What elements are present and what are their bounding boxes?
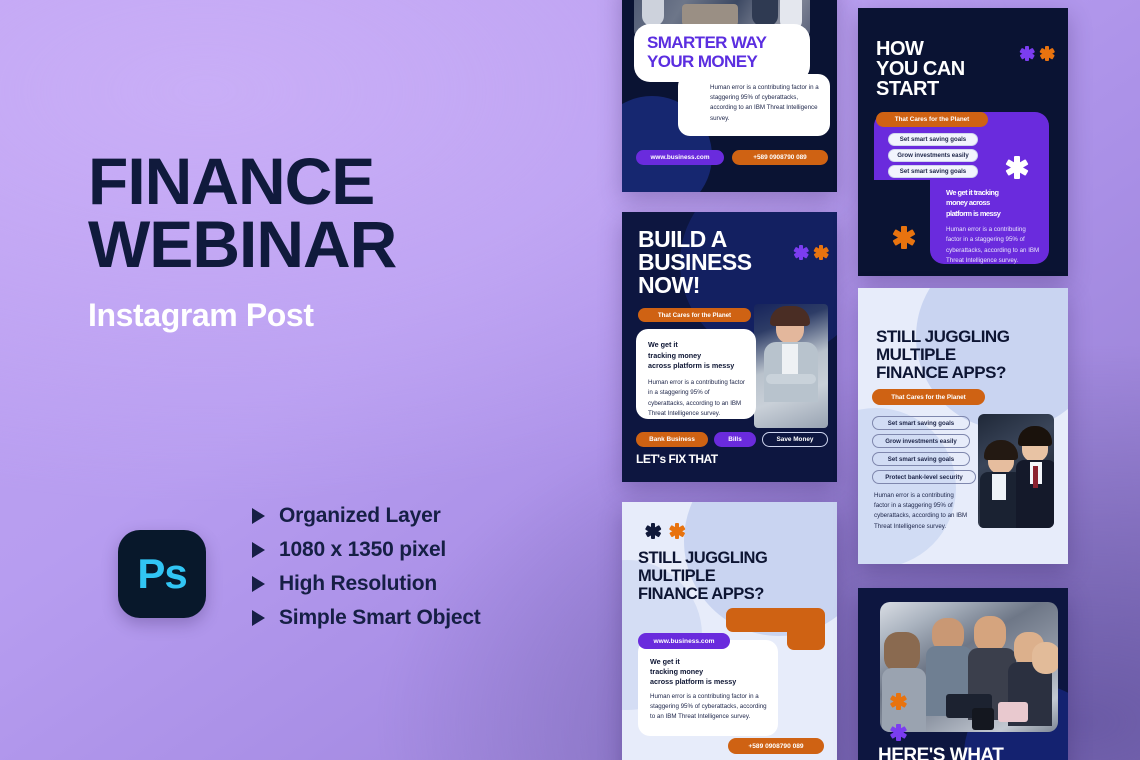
lead-line-2: money across [946, 198, 1042, 208]
feature-label: High Resolution [279, 572, 437, 596]
card-title-line-2: YOU CAN [876, 59, 965, 79]
card-title-line-1: HOW [876, 39, 923, 59]
card-photo-team [880, 602, 1058, 732]
title-line-2: WEBINAR [88, 213, 568, 276]
feature-label: 1080 x 1350 pixel [279, 538, 446, 562]
card-body-text: Human error is a contributing factor in … [678, 74, 830, 124]
tag-save-money[interactable]: Save Money [762, 432, 828, 447]
lead-line-3: across platform is messy [650, 677, 736, 687]
card-title-line-3: FINANCE APPS? [638, 586, 764, 603]
list-item[interactable]: Set smart saving goals [872, 452, 970, 466]
list-item[interactable]: Set smart saving goals [872, 416, 970, 430]
card-body-text: Human error is a contributing factor in … [636, 371, 756, 419]
photoshop-icon-label: Ps [137, 550, 186, 598]
badge-planet[interactable]: That Cares for the Planet [638, 308, 751, 322]
card-title-line-3: START [876, 79, 939, 99]
triangle-bullet-icon [252, 610, 265, 626]
features-block: Ps Organized Layer 1080 x 1350 pixel Hig… [118, 518, 481, 630]
card-photo-people [978, 414, 1054, 528]
feature-label: Organized Layer [279, 504, 441, 528]
card-title-line-2: YOUR MONEY [634, 52, 810, 71]
hero-text-block: FINANCE WEBINAR Instagram Post [88, 150, 568, 334]
card-title-line-2: MULTIPLE [876, 346, 956, 364]
asterisk-icon-orange [670, 524, 684, 538]
lead-line-2: tracking money [636, 350, 756, 361]
card-body-text: Human error is a contributing factor in … [650, 692, 772, 723]
triangle-bullet-icon [252, 508, 265, 524]
card-title-line-1: HERE'S WHAT [878, 746, 1003, 760]
card-title-line-3: FINANCE APPS? [876, 364, 1006, 382]
lead-line-2: tracking money [650, 667, 703, 677]
asterisk-icon-orange [1040, 46, 1054, 60]
card-title-line-2: BUSINESS [638, 251, 752, 274]
list-item: Simple Smart Object [252, 606, 481, 630]
lead-line-1: We get it [650, 657, 680, 667]
asterisk-icon-violet [794, 245, 808, 259]
card-body-text: Human error is a contributing factor in … [874, 491, 970, 532]
badge-planet[interactable]: That Cares for the Planet [872, 389, 985, 405]
list-item[interactable]: Grow investments easily [872, 434, 970, 448]
card-title-line-1: STILL JUGGLING [638, 550, 767, 567]
card-body-panel: We get it tracking money across platform… [636, 329, 756, 419]
card-title-line-2: MULTIPLE [638, 568, 715, 585]
website-button[interactable]: www.business.com [638, 633, 730, 649]
badge-planet[interactable]: That Cares for the Planet [876, 112, 988, 127]
card-photo-person [754, 304, 828, 428]
feature-label: Simple Smart Object [279, 606, 481, 630]
phone-button[interactable]: +589 0908790 089 [732, 150, 828, 165]
lead-line-1: We get it [636, 329, 756, 350]
list-item: High Resolution [252, 572, 481, 596]
list-item: Organized Layer [252, 504, 481, 528]
card-title-line-1: BUILD A [638, 228, 727, 251]
card-still-juggling-right[interactable]: STILL JUGGLING MULTIPLE FINANCE APPS? Th… [858, 288, 1068, 564]
asterisk-icon-orange [890, 693, 906, 709]
lead-line-1: We get it tracking [946, 188, 1042, 198]
list-item[interactable]: Protect bank-level security [872, 470, 976, 484]
card-body-panel: Human error is a contributing factor in … [678, 74, 830, 136]
page-title: FINANCE WEBINAR [88, 150, 568, 275]
list-item[interactable]: Set smart saving goals [888, 165, 978, 178]
card-body-text: Human error is a contributing factor in … [946, 225, 1042, 266]
photoshop-icon: Ps [118, 530, 206, 618]
feature-list: Organized Layer 1080 x 1350 pixel High R… [252, 504, 481, 630]
asterisk-icon-orange [814, 245, 828, 259]
card-smarter-way[interactable]: SMARTER WAY YOUR MONEY Human error is a … [622, 0, 837, 192]
lead-line-3: across platform is messy [636, 360, 756, 371]
lead-line-3: platform is messy [946, 209, 1042, 219]
website-button[interactable]: www.business.com [636, 150, 724, 165]
card-still-juggling-light[interactable]: STILL JUGGLING MULTIPLE FINANCE APPS? ww… [622, 502, 837, 760]
card-build-a-business[interactable]: BUILD A BUSINESS NOW! That Cares for the… [622, 212, 837, 482]
card-title-line-3: NOW! [638, 274, 700, 297]
asterisk-icon-white [1006, 156, 1028, 178]
decorative-blob-2 [858, 408, 956, 564]
phone-button[interactable]: +589 0908790 089 [728, 738, 824, 754]
tag-bank-business[interactable]: Bank Business [636, 432, 708, 447]
card-title-line-1: SMARTER WAY [634, 24, 810, 52]
card-heres-what-youll-learn[interactable]: HERE'S WHAT YOU'LL LEARN [858, 588, 1068, 760]
asterisk-icon-orange-2 [893, 226, 915, 248]
tag-bills[interactable]: Bills [714, 432, 756, 447]
triangle-bullet-icon [252, 542, 265, 558]
list-item: 1080 x 1350 pixel [252, 538, 481, 562]
card-title-line-1: STILL JUGGLING [876, 328, 1009, 346]
asterisk-icon-violet [890, 724, 906, 740]
poster-canvas: FINANCE WEBINAR Instagram Post Ps Organi… [0, 0, 1140, 760]
triangle-bullet-icon [252, 576, 265, 592]
asterisk-icon-violet [1020, 46, 1034, 60]
list-item[interactable]: Set smart saving goals [888, 133, 978, 146]
decorative-orange-shape-2 [787, 628, 825, 650]
card-footer-text: LET's FIX THAT [636, 453, 718, 465]
list-item[interactable]: Grow investments easily [888, 149, 978, 162]
card-how-you-can-start[interactable]: HOW YOU CAN START That Cares for the Pla… [858, 8, 1068, 276]
page-subtitle: Instagram Post [88, 297, 568, 334]
asterisk-icon-navy [646, 524, 660, 538]
